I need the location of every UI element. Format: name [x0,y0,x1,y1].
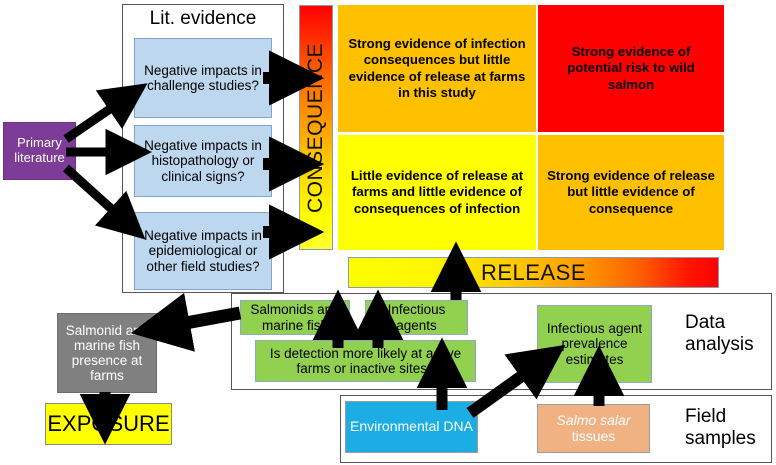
box-salmo-salar-tissues[interactable]: Salmo salar tissues [537,404,650,453]
matrix-cell-top-left[interactable]: Strong evidence of infection consequence… [338,5,536,132]
axis-release-bar: RELEASE [348,257,719,288]
box-exposure[interactable]: EXPOSURE [45,403,172,445]
salmo-salar-italic-text: Salmo salar [557,413,631,429]
salmo-salar-plain-text: tissues [572,429,616,445]
box-negative-impacts-epidemiological[interactable]: Negative impacts in epidemiological or o… [134,212,272,290]
data-analysis-panel-label: Data analysis [685,312,771,368]
matrix-cell-bottom-right[interactable]: Strong evidence of release but little ev… [538,135,724,250]
box-primary-literature[interactable]: Primary literature [3,122,76,180]
matrix-cell-top-right[interactable]: Strong evidence of potential risk to wil… [538,5,724,132]
box-prevalence-estimates[interactable]: Infectious agent prevalence estimates [537,305,652,383]
box-salmonids-and-marine-fish[interactable]: Salmonids and marine fish [240,300,350,335]
axis-consequence-label-wrap: CONSEQUENCE [300,6,332,249]
box-environmental-dna[interactable]: Environmental DNA [345,401,478,453]
axis-release-label: RELEASE [349,258,718,287]
arrow-salmonids-to-farm-presence [164,313,240,327]
axis-consequence-bar: CONSEQUENCE [299,5,333,250]
field-samples-label-line1: Field [685,406,771,428]
diagram-canvas: Lit. evidence Negative impacts in challe… [0,0,776,465]
box-farm-presence[interactable]: Salmonid and marine fish presence at far… [57,313,157,393]
data-analysis-label-line2: analysis [685,334,771,356]
box-negative-impacts-challenge[interactable]: Negative impacts in challenge studies? [134,38,272,118]
lit-evidence-panel-label: Lit. evidence [126,6,280,32]
field-samples-panel-label: Field samples [685,406,771,462]
matrix-cell-bottom-left[interactable]: Little evidence of release at farms and … [338,135,536,250]
box-detection-question[interactable]: Is detection more likely at active farms… [255,340,476,382]
box-infectious-agents[interactable]: Infectious agents [365,300,468,335]
axis-consequence-label: CONSEQUENCE [304,42,328,212]
box-negative-impacts-histopathology[interactable]: Negative impacts in histopathology or cl… [134,125,272,197]
data-analysis-label-line1: Data [685,312,771,334]
field-samples-label-line2: samples [685,428,771,450]
